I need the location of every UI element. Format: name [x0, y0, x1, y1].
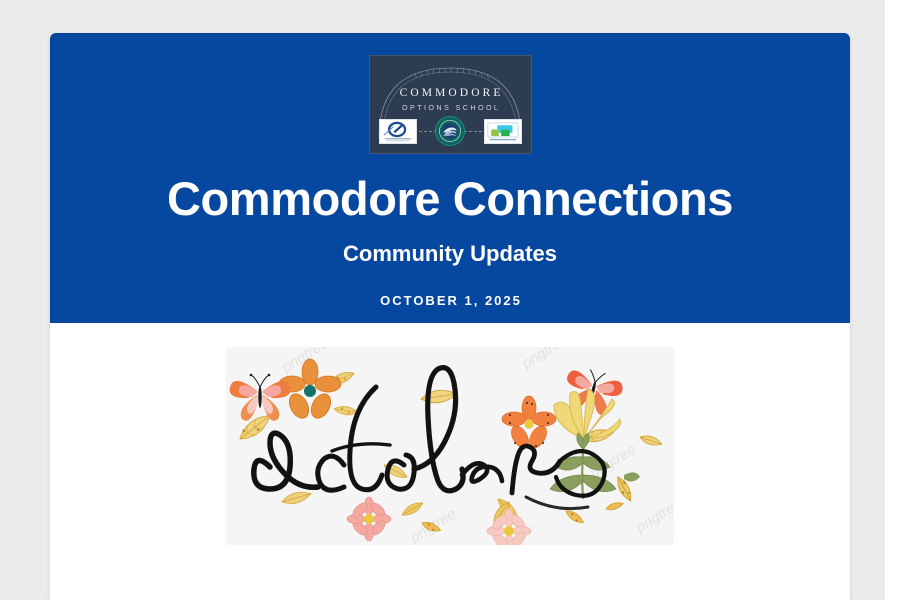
accreditation-badge-icon: [381, 121, 415, 143]
green-school-badge-icon: [486, 121, 520, 143]
browser-viewport: COMMODORE OPTIONS SCHOOL: [0, 0, 900, 600]
school-logo: COMMODORE OPTIONS SCHOOL: [369, 55, 532, 154]
newsletter-card: COMMODORE OPTIONS SCHOOL: [50, 33, 850, 600]
october-illustration-graphic: pngtree pngtree pngtree pngtree pngtree: [226, 347, 674, 545]
logo-wordmark: COMMODORE: [370, 88, 531, 100]
newsletter-body: pngtree pngtree pngtree pngtree pngtree: [50, 323, 850, 550]
page-title: Commodore Connections: [167, 174, 733, 224]
logo-subwordmark: OPTIONS SCHOOL: [370, 104, 531, 111]
district-seal-badge: [435, 116, 465, 146]
october-lettering-illustration: pngtree pngtree pngtree pngtree pngtree: [226, 347, 674, 545]
issue-date: OCTOBER 1, 2025: [378, 293, 522, 308]
page-subtitle: Community Updates: [343, 241, 557, 267]
newsletter-masthead: COMMODORE OPTIONS SCHOOL: [50, 33, 850, 323]
accreditation-badge: [379, 119, 417, 144]
logo-badge-row: [370, 116, 531, 146]
vertical-scrollbar-track[interactable]: [885, 0, 900, 600]
green-school-badge: [484, 119, 522, 144]
district-seal-badge-icon: [436, 117, 464, 145]
